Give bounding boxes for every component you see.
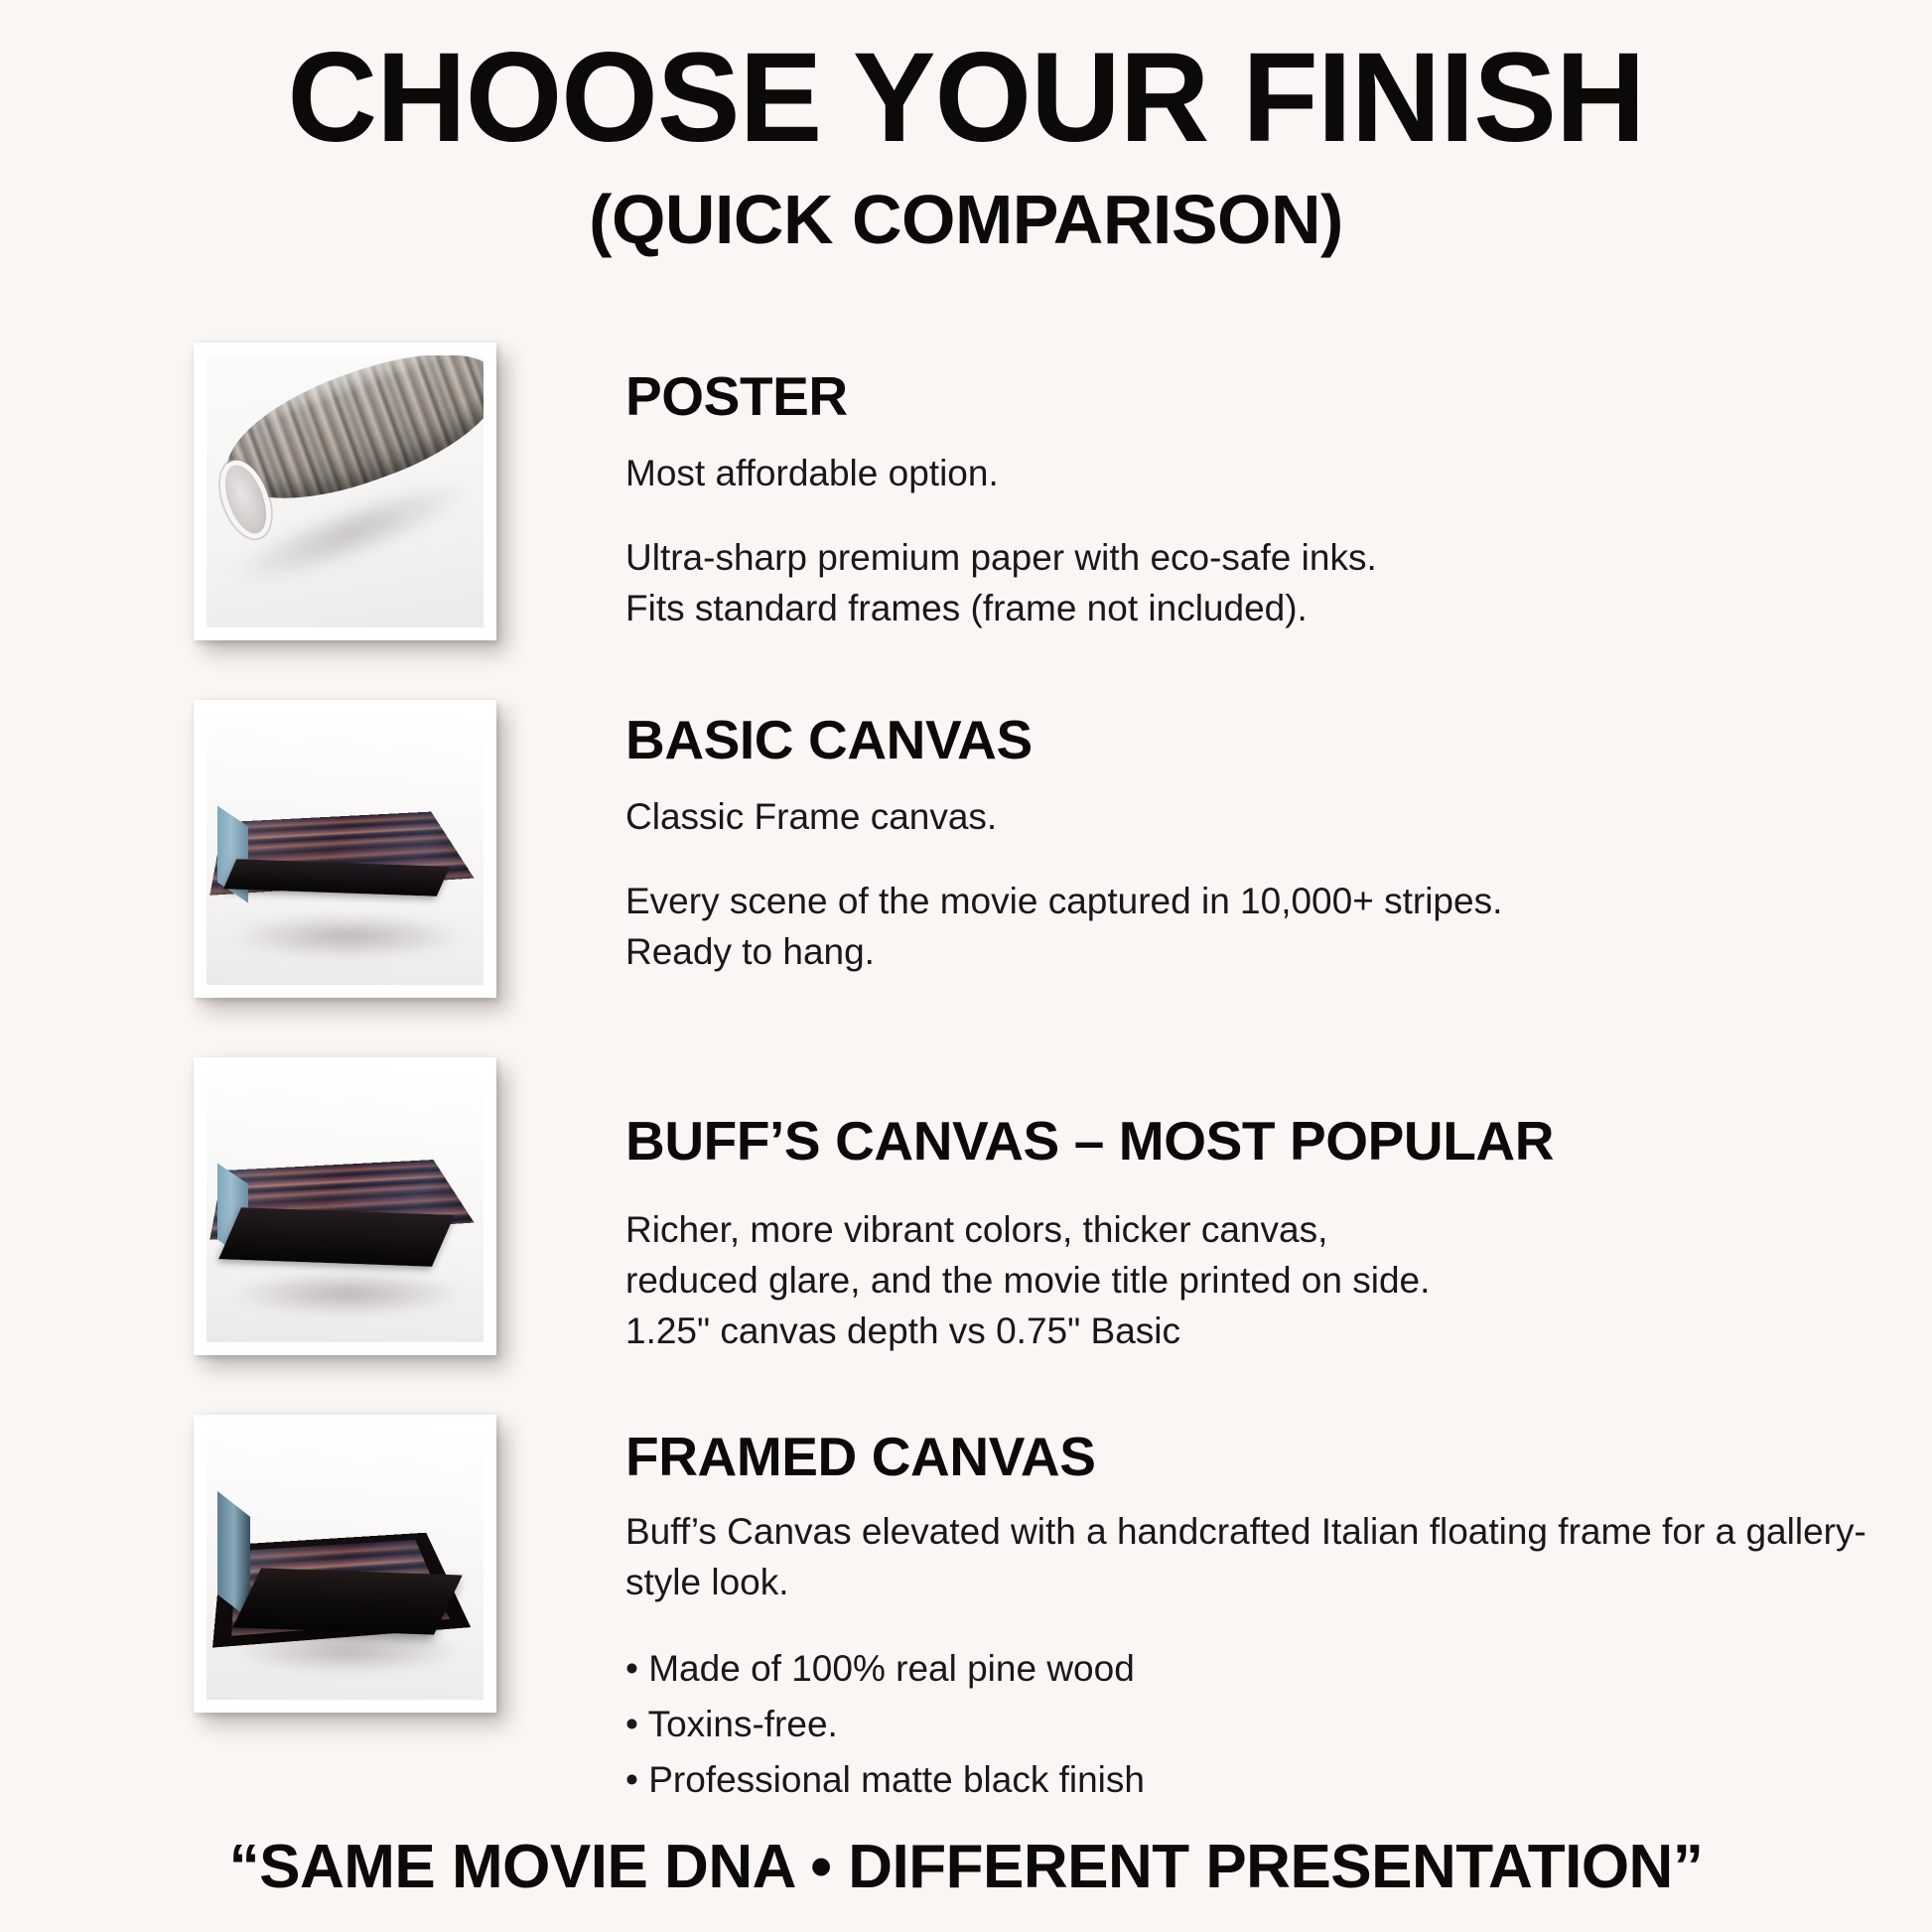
framed-canvas-corner-photo (207, 1428, 483, 1700)
poster-heading: POSTER (625, 368, 1932, 426)
basic-canvas-thumbnail-card (194, 700, 496, 998)
framed-canvas-bullet: • Made of 100% real pine wood (625, 1641, 1932, 1697)
page-title: CHOOSE YOUR FINISH (19, 34, 1912, 164)
buffs-canvas-scene (207, 1070, 483, 1342)
poster-thumbnail-card (194, 343, 496, 640)
buffs-canvas-bottom-edge (218, 1208, 454, 1268)
buffs-canvas-heading: BUFF’S CANVAS – MOST POPULAR (625, 1113, 1932, 1171)
basic-canvas-lead: Classic Frame canvas. (625, 791, 1932, 842)
buffs-canvas-detail-line: reduced glare, and the movie title print… (625, 1255, 1932, 1306)
framed-canvas-heading: FRAMED CANVAS (625, 1429, 1932, 1486)
basic-canvas-corner-photo (207, 713, 483, 985)
buffs-canvas-thumbnail-card (194, 1057, 496, 1355)
poster-detail: Ultra-sharp premium paper with eco-safe … (625, 532, 1932, 633)
page-subtitle: (QUICK COMPARISON) (0, 180, 1932, 259)
basic-canvas-shadow (234, 914, 462, 958)
poster-detail-line: Fits standard frames (frame not included… (625, 583, 1932, 633)
buffs-canvas-shadow (234, 1272, 462, 1315)
basic-canvas-copy: BASIC CANVAS Classic Frame canvas. Every… (496, 700, 1932, 977)
poster-copy: POSTER Most affordable option. Ultra-sha… (496, 343, 1932, 633)
framed-canvas-thumbnail-card (194, 1415, 496, 1713)
poster-roll-photo (207, 355, 483, 627)
framed-canvas-bullet-list: • Made of 100% real pine wood • Toxins-f… (625, 1641, 1932, 1809)
infographic-page: CHOOSE YOUR FINISH (QUICK COMPARISON) PO… (0, 0, 1932, 1932)
header: CHOOSE YOUR FINISH (QUICK COMPARISON) (0, 0, 1932, 259)
framed-canvas-bullet: • Professional matte black finish (625, 1752, 1932, 1808)
option-row-framed-canvas: FRAMED CANVAS Buff’s Canvas elevated wit… (0, 1415, 1932, 1772)
framed-canvas-frame-depth (232, 1569, 463, 1635)
poster-detail-line: Ultra-sharp premium paper with eco-safe … (625, 532, 1932, 583)
buffs-canvas-copy: BUFF’S CANVAS – MOST POPULAR Richer, mor… (496, 1057, 1932, 1356)
basic-canvas-detail: Every scene of the movie captured in 10,… (625, 876, 1932, 977)
poster-roll-scene (207, 355, 483, 627)
framed-canvas-lead: Buff’s Canvas elevated with a handcrafte… (625, 1506, 1932, 1607)
option-row-buffs-canvas: BUFF’S CANVAS – MOST POPULAR Richer, mor… (0, 1057, 1932, 1415)
framed-canvas-bullet: • Toxins-free. (625, 1697, 1932, 1752)
buffs-canvas-corner-photo (207, 1070, 483, 1342)
option-row-basic-canvas: BASIC CANVAS Classic Frame canvas. Every… (0, 700, 1932, 1057)
option-row-poster: POSTER Most affordable option. Ultra-sha… (0, 343, 1932, 700)
poster-lead: Most affordable option. (625, 448, 1932, 498)
framed-canvas-copy: FRAMED CANVAS Buff’s Canvas elevated wit… (496, 1415, 1932, 1809)
basic-canvas-detail-line: Every scene of the movie captured in 10,… (625, 876, 1932, 926)
buffs-canvas-detail-line: 1.25" canvas depth vs 0.75" Basic (625, 1306, 1932, 1356)
basic-canvas-scene (207, 713, 483, 985)
comparison-list: POSTER Most affordable option. Ultra-sha… (0, 343, 1932, 1772)
framed-canvas-scene (207, 1428, 483, 1700)
buffs-canvas-detail-line: Richer, more vibrant colors, thicker can… (625, 1204, 1932, 1255)
buffs-canvas-detail: Richer, more vibrant colors, thicker can… (625, 1204, 1932, 1356)
framed-canvas-lead-line: Buff’s Canvas elevated with a handcrafte… (625, 1511, 1419, 1552)
basic-canvas-detail-line: Ready to hang. (625, 926, 1932, 977)
footer-tagline: “SAME MOVIE DNA • DIFFERENT PRESENTATION… (0, 1832, 1932, 1902)
basic-canvas-heading: BASIC CANVAS (625, 712, 1932, 769)
